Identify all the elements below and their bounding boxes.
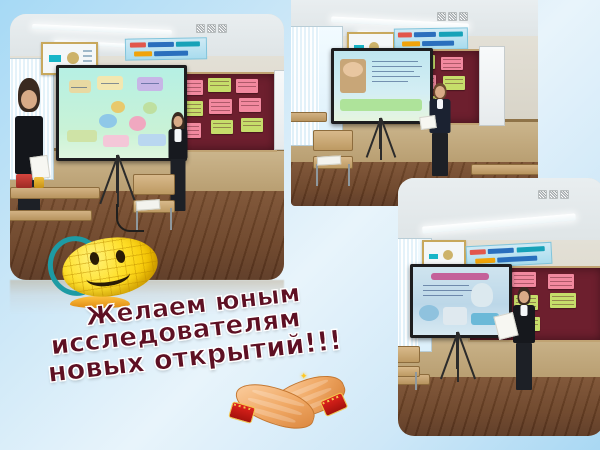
board-card (239, 98, 261, 112)
side-desk (291, 112, 327, 122)
pen-holder (16, 174, 32, 188)
clapping-hands: ✦ ✦ (228, 374, 360, 438)
side-whiteboard (274, 70, 284, 150)
board-card (550, 293, 576, 308)
board-card (209, 99, 232, 114)
screen-tripod (100, 155, 134, 207)
person-student-presenter (426, 84, 454, 176)
teacher-desk (10, 187, 100, 199)
photo-collage: Желаем юным исследователям новых открыти… (0, 0, 600, 450)
laptop (50, 158, 90, 188)
globe-base (70, 296, 130, 308)
side-desk (471, 164, 538, 175)
board-card (211, 120, 233, 134)
board-card (241, 118, 263, 132)
board-card (236, 79, 258, 93)
chair (398, 346, 420, 390)
board-card (548, 274, 574, 289)
board-card (512, 272, 536, 287)
student-desk (10, 210, 92, 221)
board-card (441, 57, 463, 70)
board-card (208, 78, 231, 92)
projector-screen (331, 48, 433, 124)
ceiling-vent-icon (196, 24, 227, 33)
side-whiteboard (479, 46, 505, 126)
pen-holder (34, 177, 44, 188)
photo-bottom-right (398, 178, 600, 436)
floor-cable (116, 204, 144, 232)
person-student-reader (508, 288, 540, 390)
smiley-globe (46, 232, 162, 308)
papers-on-chair (317, 155, 341, 165)
screen-tripod (440, 332, 474, 382)
wall-banner (125, 37, 207, 60)
screen-tripod (365, 118, 395, 160)
ceiling-vent-icon (437, 12, 468, 21)
slide-photo-text (334, 51, 430, 121)
ceiling-vent-icon (538, 190, 569, 199)
photo-top-right (291, 0, 538, 206)
held-paper (419, 115, 437, 130)
